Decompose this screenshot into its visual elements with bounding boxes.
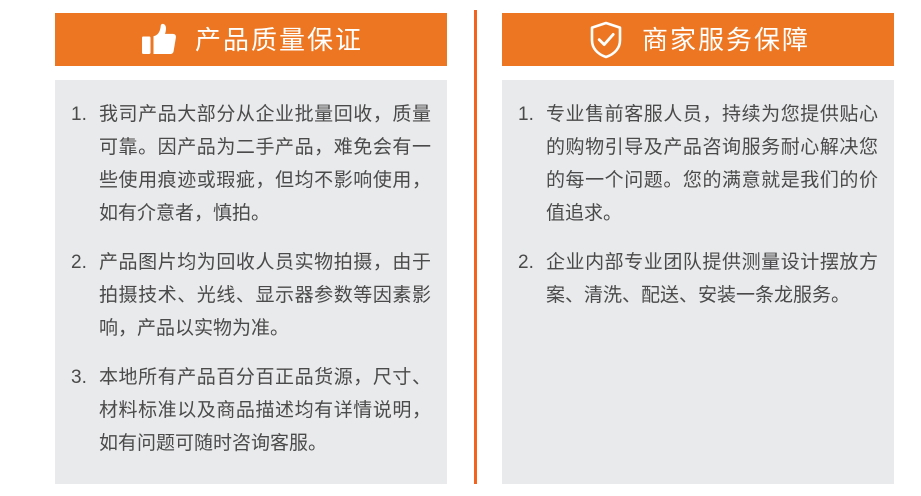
list-item: 2. 产品图片均为回收人员实物拍摄，由于拍摄技术、光线、显示器参数等因素影响，产… <box>71 246 431 345</box>
quality-guarantee-header: 产品质量保证 <box>55 13 447 66</box>
panel-quality-guarantee: 产品质量保证 1. 我司产品大部分从企业批量回收，质量可靠。因产品为二手产品，难… <box>0 0 460 496</box>
list-item: 2. 企业内部专业团队提供测量设计摆放方案、清洗、配送、安装一条龙服务。 <box>518 246 878 312</box>
panel-service-guarantee: 商家服务保障 1. 专业售前客服人员，持续为您提供贴心的购物引导及产品咨询服务耐… <box>461 0 921 496</box>
list-item-number: 3. <box>71 361 99 394</box>
list-item-text: 本地所有产品百分百正品货源，尺寸、材料标准以及商品描述均有详情说明，如有问题可随… <box>99 361 431 460</box>
list-item-number: 1. <box>71 98 99 131</box>
shield-check-icon <box>586 20 626 60</box>
quality-guarantee-list: 1. 我司产品大部分从企业批量回收，质量可靠。因产品为二手产品，难免会有一些使用… <box>71 98 431 460</box>
list-item-number: 2. <box>518 246 546 279</box>
list-item-text: 产品图片均为回收人员实物拍摄，由于拍摄技术、光线、显示器参数等因素影响，产品以实… <box>99 246 431 345</box>
service-guarantee-header: 商家服务保障 <box>502 13 894 66</box>
list-item-number: 2. <box>71 246 99 279</box>
service-guarantee-list: 1. 专业售前客服人员，持续为您提供贴心的购物引导及产品咨询服务耐心解决您的每一… <box>518 98 878 312</box>
list-item-text: 专业售前客服人员，持续为您提供贴心的购物引导及产品咨询服务耐心解决您的每一个问题… <box>546 98 878 230</box>
thumbs-up-icon <box>139 20 179 60</box>
list-item-text: 企业内部专业团队提供测量设计摆放方案、清洗、配送、安装一条龙服务。 <box>546 246 878 312</box>
quality-guarantee-content: 1. 我司产品大部分从企业批量回收，质量可靠。因产品为二手产品，难免会有一些使用… <box>55 80 447 484</box>
service-guarantee-content: 1. 专业售前客服人员，持续为您提供贴心的购物引导及产品咨询服务耐心解决您的每一… <box>502 80 894 484</box>
list-item: 1. 专业售前客服人员，持续为您提供贴心的购物引导及产品咨询服务耐心解决您的每一… <box>518 98 878 230</box>
list-item: 1. 我司产品大部分从企业批量回收，质量可靠。因产品为二手产品，难免会有一些使用… <box>71 98 431 230</box>
list-item-text: 我司产品大部分从企业批量回收，质量可靠。因产品为二手产品，难免会有一些使用痕迹或… <box>99 98 431 230</box>
list-item-number: 1. <box>518 98 546 131</box>
quality-guarantee-title: 产品质量保证 <box>195 27 363 53</box>
guarantee-board: 产品质量保证 1. 我司产品大部分从企业批量回收，质量可靠。因产品为二手产品，难… <box>0 0 921 496</box>
list-item: 3. 本地所有产品百分百正品货源，尺寸、材料标准以及商品描述均有详情说明，如有问… <box>71 361 431 460</box>
service-guarantee-title: 商家服务保障 <box>642 27 810 53</box>
